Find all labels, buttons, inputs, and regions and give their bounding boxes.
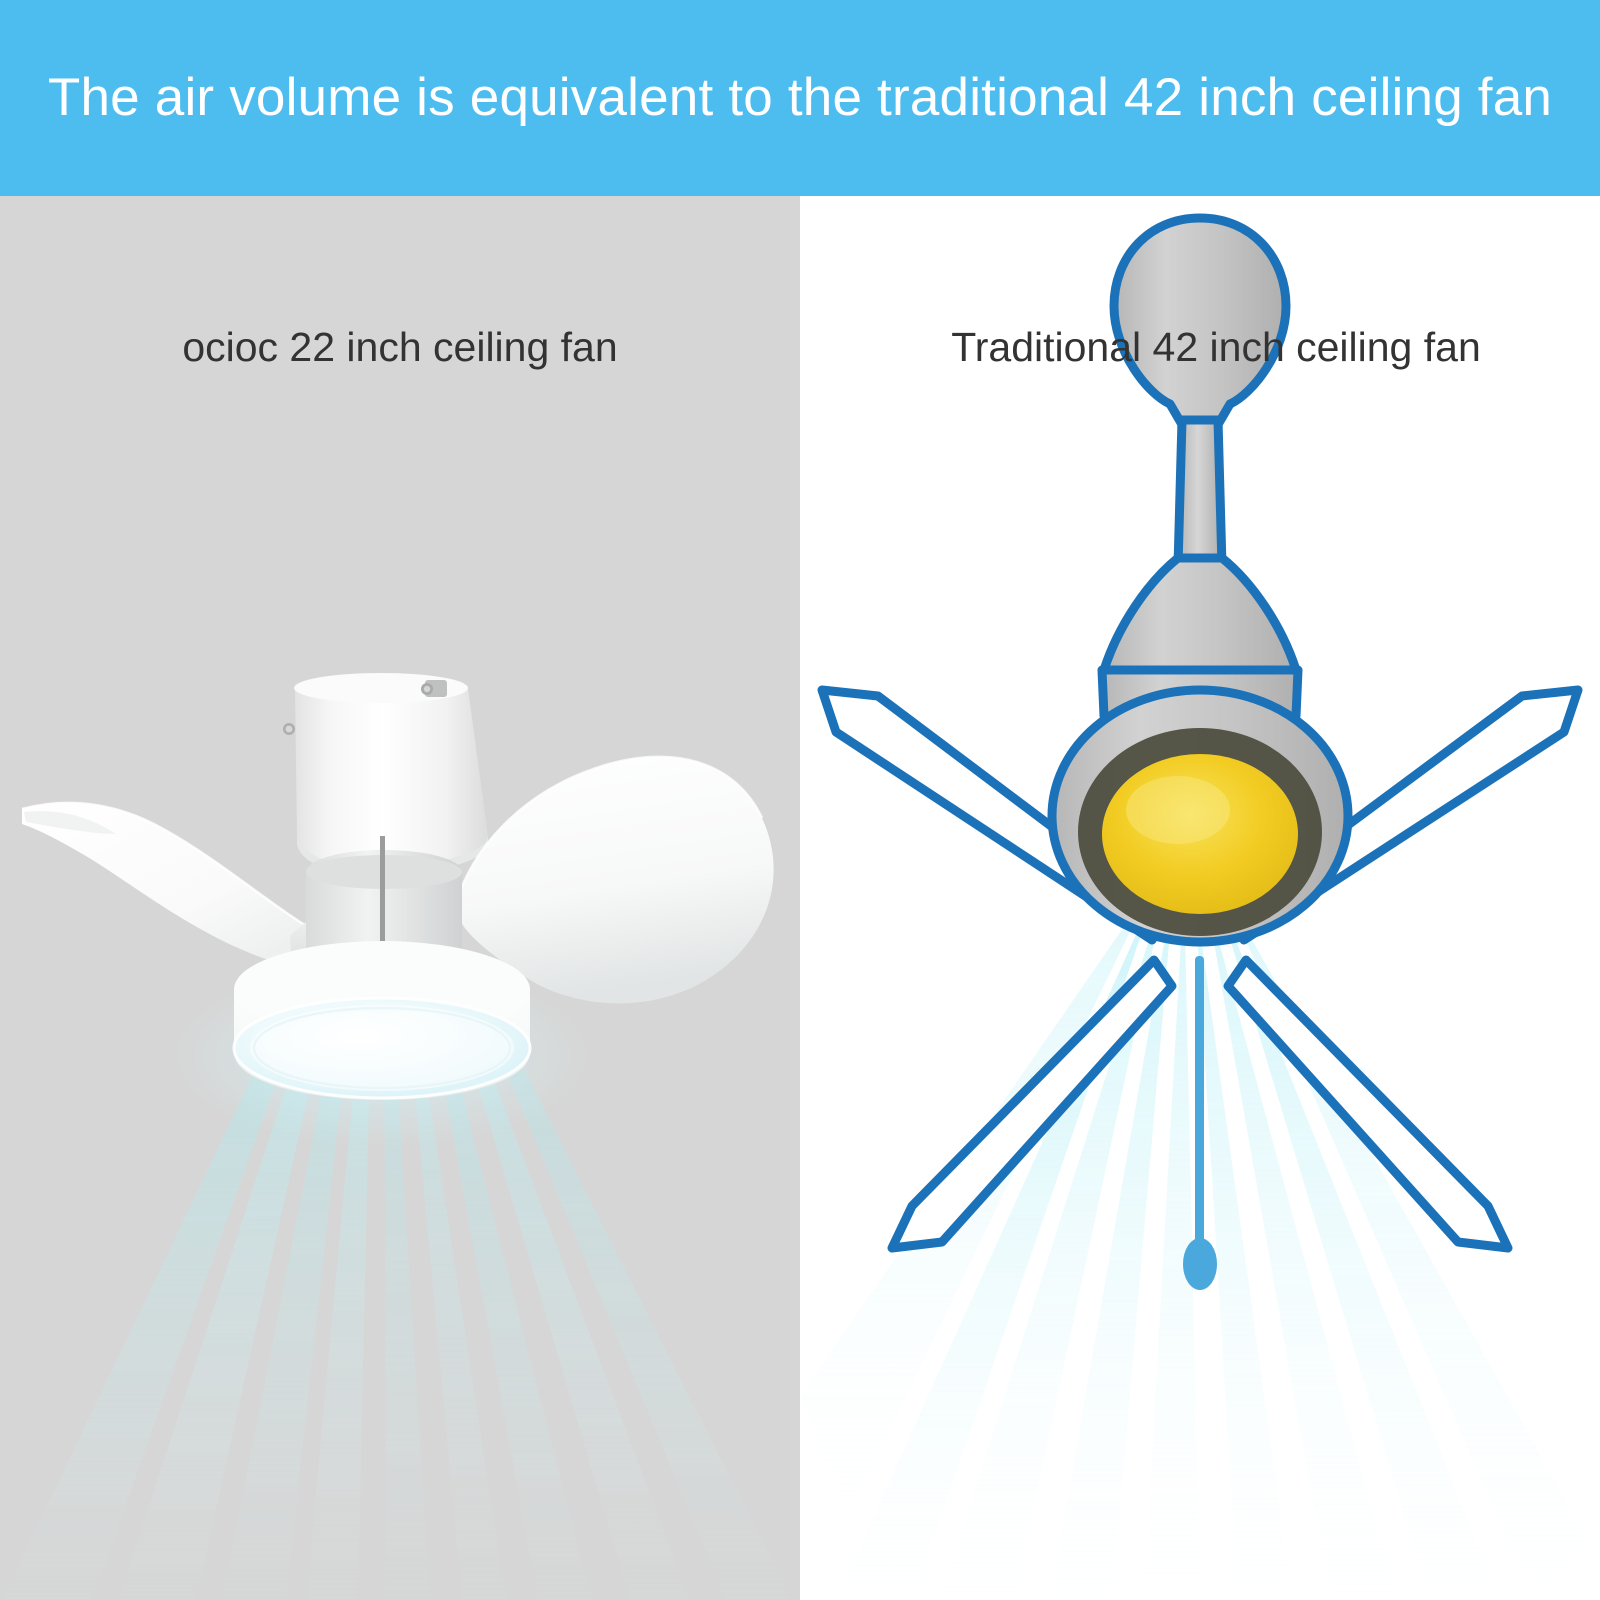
- header-banner: The air volume is equivalent to the trad…: [0, 0, 1600, 196]
- comparison-infographic: The air volume is equivalent to the trad…: [0, 0, 1600, 1600]
- panel-traditional-fan: Traditional 42 inch ceiling fan: [800, 196, 1600, 1600]
- banner-title: The air volume is equivalent to the trad…: [48, 69, 1552, 127]
- label-traditional-fan: Traditional 42 inch ceiling fan: [800, 324, 1600, 371]
- ocioc-fan-illustration: [0, 196, 800, 1600]
- traditional-fan-illustration: [800, 196, 1600, 1600]
- fan-downrod: [1178, 420, 1222, 566]
- panel-ocioc-fan: ocioc 22 inch ceiling fan: [0, 196, 800, 1600]
- fan-light-hub: [1052, 690, 1348, 942]
- label-ocioc-fan: ocioc 22 inch ceiling fan: [0, 324, 800, 371]
- fan-canopy: [1114, 218, 1286, 428]
- fan-canopy: [283, 673, 488, 876]
- comparison-area: ocioc 22 inch ceiling fan: [0, 196, 1600, 1600]
